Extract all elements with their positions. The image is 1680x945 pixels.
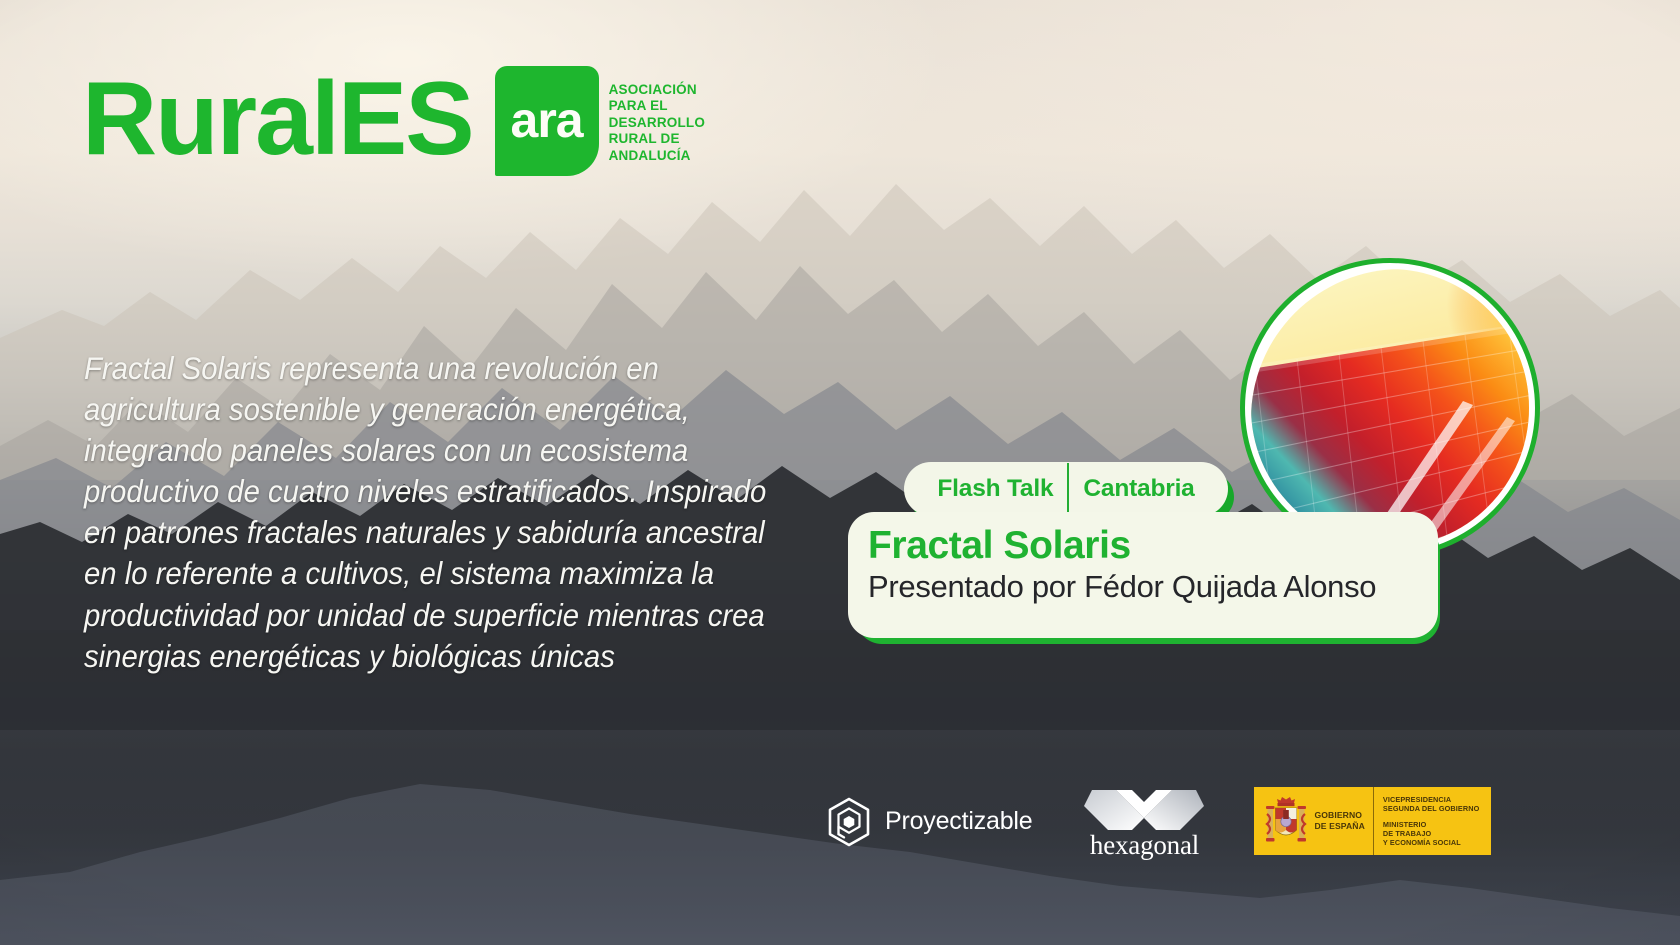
ara-tagline-line: ANDALUCÍA [609,148,706,164]
gob-line: SEGUNDA DEL GOBIERNO [1383,804,1479,813]
talk-card-group: Flash Talk Cantabria Fractal Solaris Pre… [848,462,1448,644]
description-text: Fractal Solaris representa una revolució… [84,348,772,677]
talk-info-card: Fractal Solaris Presentado por Fédor Qui… [848,512,1440,644]
badge-pill: Flash Talk Cantabria [904,462,1228,516]
spain-coat-of-arms-icon [1264,794,1308,848]
brand-header: RuralES ara ASOCIACIÓN PARA EL DESARROLL… [82,62,705,176]
ara-tagline-line: DESARROLLO [609,115,706,131]
talk-meta-badge: Flash Talk Cantabria [904,462,1234,516]
government-logo: GOBIERNO DE ESPAÑA VICEPRESIDENCIA SEGUN… [1254,787,1491,855]
project-description: Fractal Solaris representa una revolució… [84,348,824,677]
ara-logo-icon: ara [495,66,599,176]
talk-presenter: Presentado por Fédor Quijada Alonso [868,570,1438,605]
ara-logo-text: ara [511,95,583,145]
hexagon-chevron-icon [1078,784,1210,834]
gob-line: DE ESPAÑA [1314,821,1364,831]
badge-region-label: Cantabria [1069,475,1208,503]
talk-title: Fractal Solaris [868,526,1438,567]
ara-logo-lockup: ara ASOCIACIÓN PARA EL DESARROLLO RURAL … [495,66,706,176]
sponsor-logos: Proyectizable hexagonal [826,782,1491,861]
government-left-text: GOBIERNO DE ESPAÑA [1314,810,1364,831]
ara-tagline-line: ASOCIACIÓN [609,82,706,98]
page-title: RuralES [82,70,473,169]
ara-tagline-line: RURAL DE [609,131,706,147]
sponsor-hexagonal-label: hexagonal [1090,830,1199,861]
ara-tagline-line: PARA EL [609,98,706,114]
gob-line: Y ECONOMÍA SOCIAL [1383,838,1479,847]
card-body: Fractal Solaris Presentado por Fédor Qui… [848,512,1438,638]
ara-logo-tagline: ASOCIACIÓN PARA EL DESARROLLO RURAL DE A… [609,82,706,164]
hexagon-spiral-icon [826,797,872,847]
sponsor-proyectizable-label: Proyectizable [885,807,1032,836]
government-logo-right: VICEPRESIDENCIA SEGUNDA DEL GOBIERNO MIN… [1374,787,1485,855]
gob-line: GOBIERNO [1314,810,1364,820]
gob-line: VICEPRESIDENCIA [1383,795,1479,804]
government-ministry-block: MINISTERIO DE TRABAJO Y ECONOMÍA SOCIAL [1383,820,1479,847]
sponsor-proyectizable: Proyectizable [826,797,1032,847]
badge-format-label: Flash Talk [923,475,1067,503]
gob-line: DE TRABAJO [1383,829,1479,838]
government-logo-left: GOBIERNO DE ESPAÑA [1254,787,1373,855]
sponsor-hexagonal: hexagonal [1078,784,1210,861]
gob-line: MINISTERIO [1383,820,1479,829]
government-vicepresidency-block: VICEPRESIDENCIA SEGUNDA DEL GOBIERNO [1383,795,1479,813]
slide-canvas: RuralES ara ASOCIACIÓN PARA EL DESARROLL… [0,0,1680,945]
